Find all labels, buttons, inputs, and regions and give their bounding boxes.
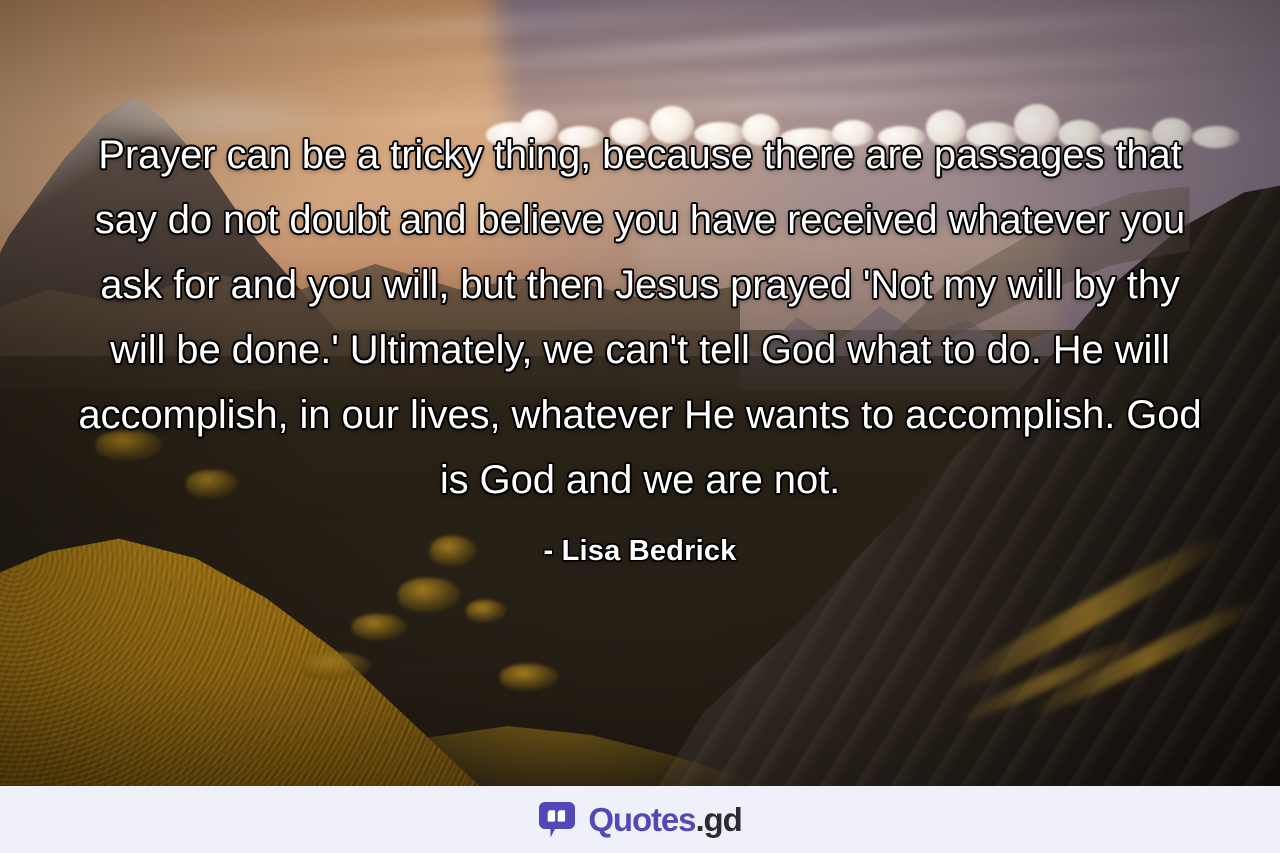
quote-content: Prayer can be a tricky thing, because th… [0,0,1280,786]
brand-name-primary: Quotes [588,801,695,838]
quote-author: - Lisa Bedrick [544,535,737,568]
quote-image-card: Prayer can be a tricky thing, because th… [0,0,1280,853]
footer-bar: Quotes.gd [0,786,1280,853]
brand-name-suffix: .gd [695,801,741,838]
brand-name: Quotes.gd [588,803,741,836]
quote-bubble-logo-icon [538,801,576,839]
brand-logo[interactable]: Quotes.gd [538,801,741,839]
quote-text: Prayer can be a tricky thing, because th… [72,123,1208,513]
